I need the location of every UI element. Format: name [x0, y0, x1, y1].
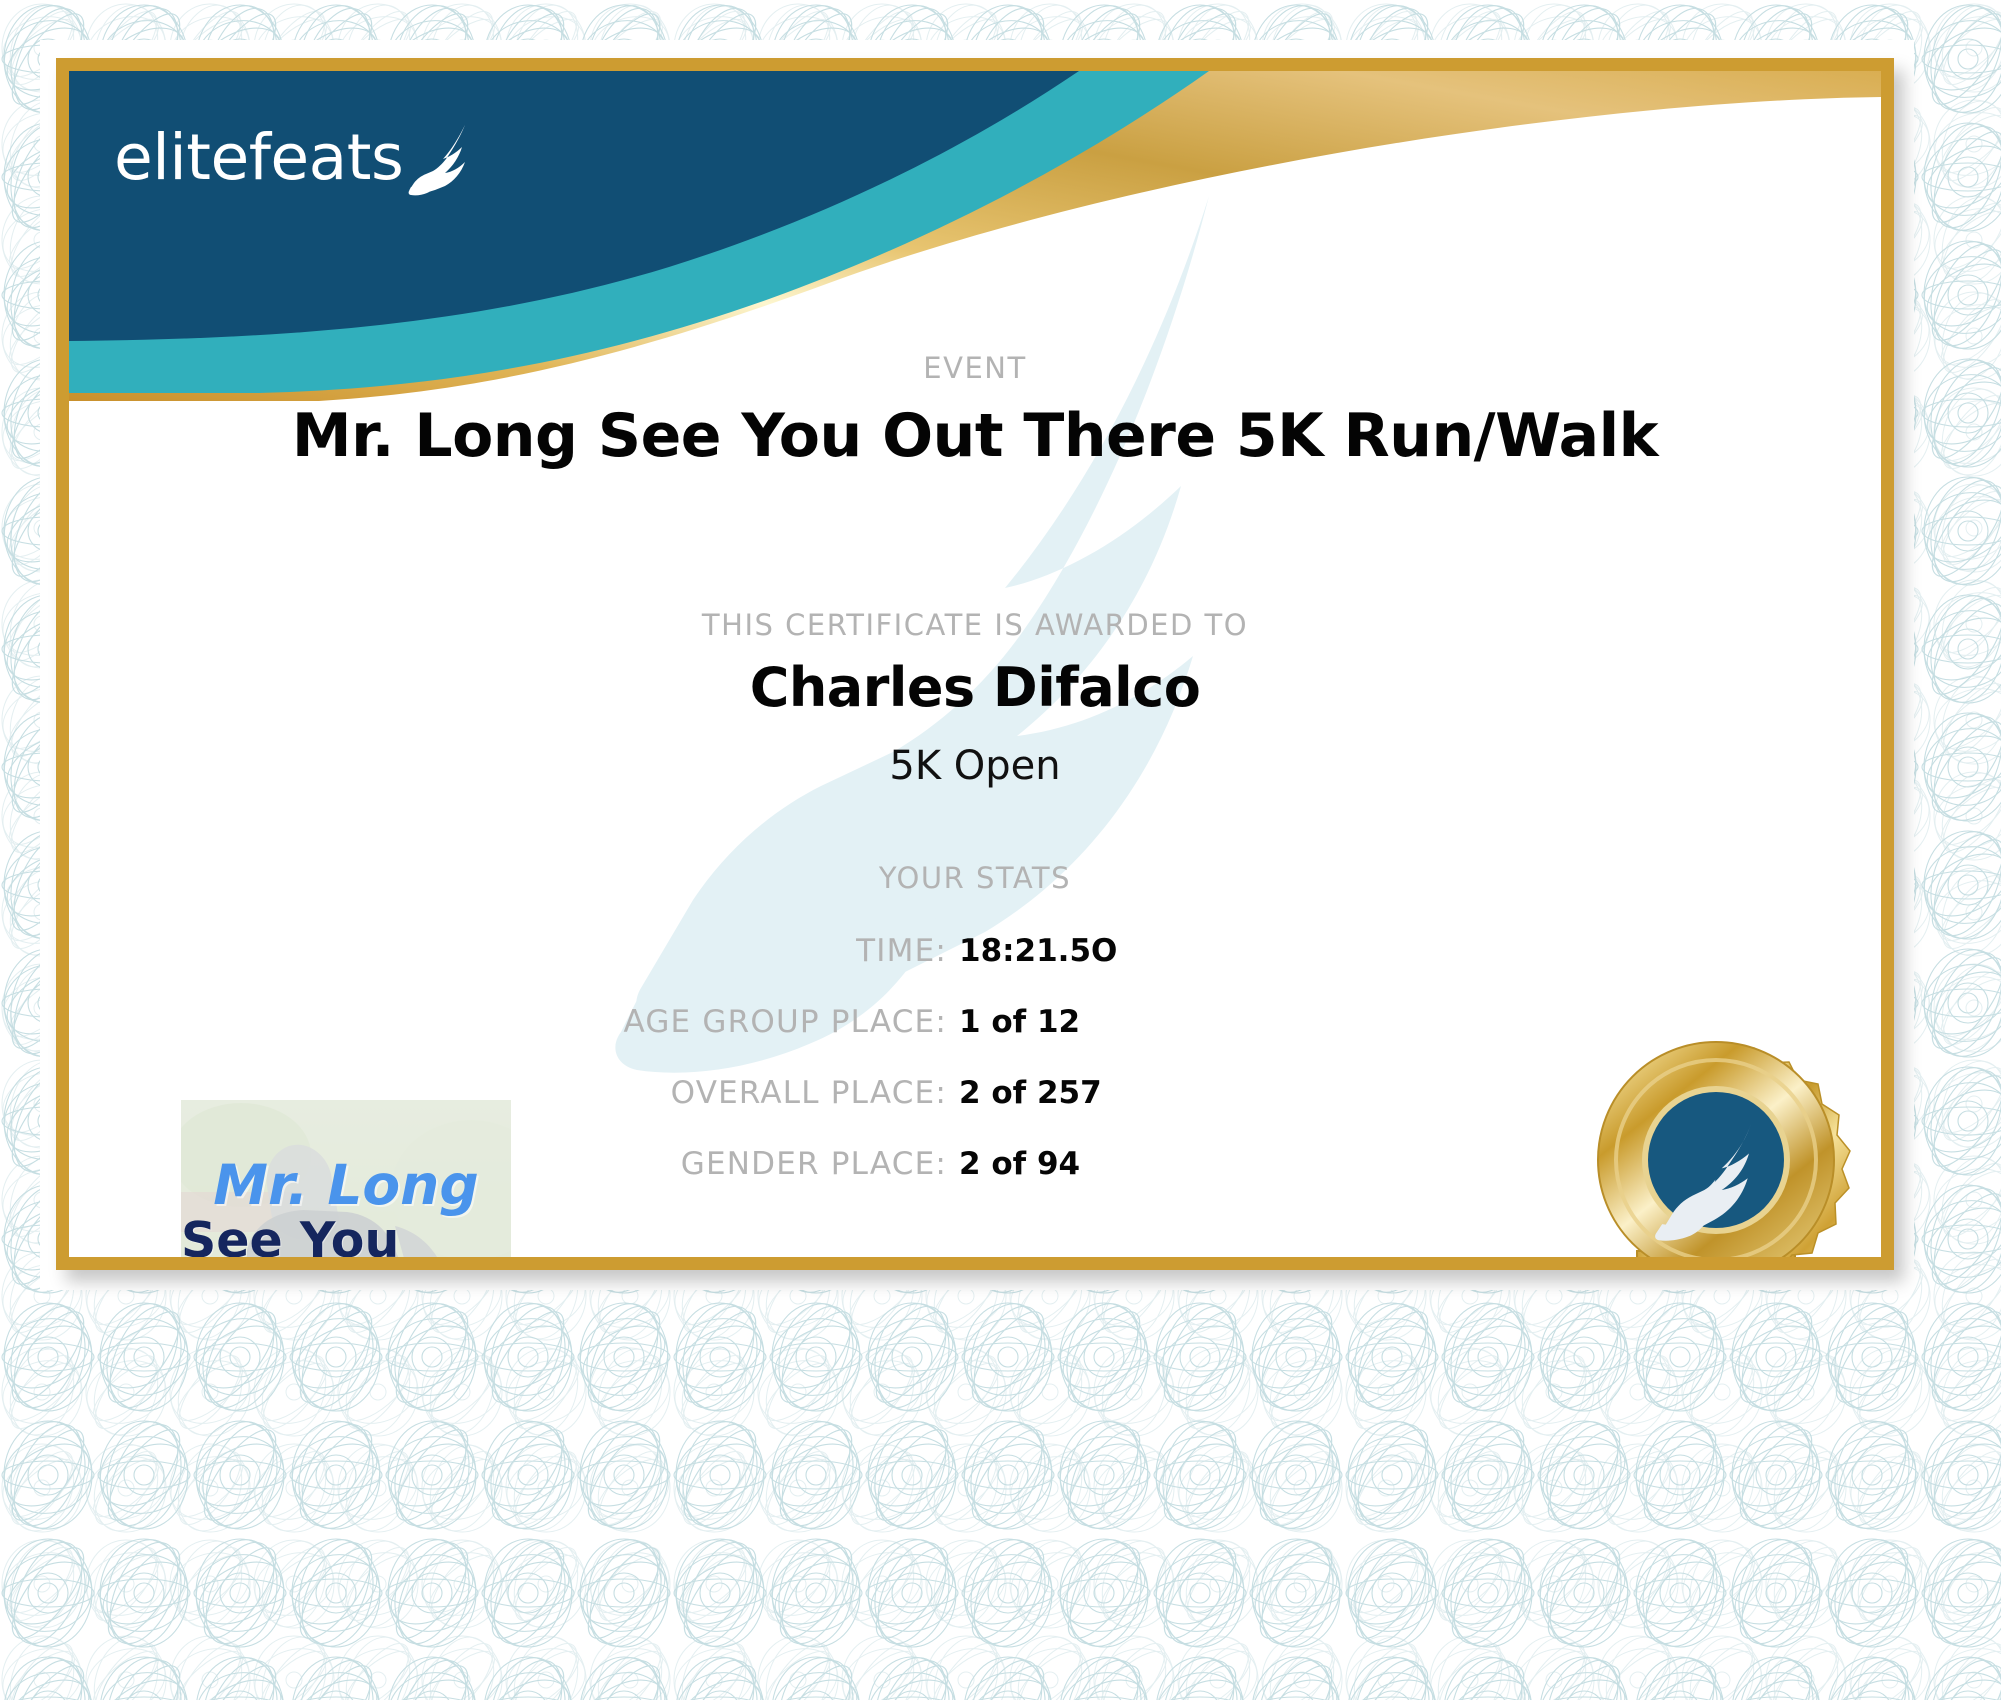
- stat-label: OVERALL PLACE:: [449, 1075, 947, 1111]
- stat-row-time: TIME: 18:21.5O: [449, 933, 1279, 980]
- finisher-medal-badge: 2O25: [1551, 1041, 1881, 1257]
- stat-row-gender-place: GENDER PLACE: 2 of 94: [449, 1146, 1279, 1193]
- certificate-card: elitefeats EVENT: [56, 58, 1894, 1270]
- your-stats-label: YOUR STATS: [69, 861, 1881, 895]
- photo-line-1: Mr. Long: [213, 1158, 478, 1213]
- awarded-to-label: THIS CERTIFICATE IS AWARDED TO: [69, 608, 1881, 642]
- stats-list: TIME: 18:21.5O AGE GROUP PLACE: 1 of 12 …: [449, 933, 1279, 1217]
- certificate-page: elitefeats EVENT: [0, 0, 2001, 1700]
- stat-label: AGE GROUP PLACE:: [449, 1004, 947, 1040]
- stat-value: 18:21.5O: [959, 933, 1117, 969]
- photo-line-2: See You Out: [181, 1215, 511, 1257]
- stat-row-overall-place: OVERALL PLACE: 2 of 257: [449, 1075, 1279, 1122]
- event-photo-overlay-text: Mr. Long See You Out There 5K: [181, 1100, 511, 1257]
- stat-row-age-group-place: AGE GROUP PLACE: 1 of 12: [449, 1004, 1279, 1051]
- logo-wordmark: elitefeats: [114, 126, 403, 189]
- stat-value: 2 of 257: [959, 1075, 1102, 1111]
- event-name: Mr. Long See You Out There 5K Run/Walk: [69, 401, 1881, 471]
- stat-value: 1 of 12: [959, 1004, 1080, 1040]
- stat-value: 2 of 94: [959, 1146, 1080, 1182]
- stat-label: TIME:: [449, 933, 947, 969]
- winged-foot-icon: [405, 123, 477, 201]
- recipient-name: Charles Difalco: [69, 656, 1881, 719]
- event-label: EVENT: [69, 351, 1881, 385]
- division-name: 5K Open: [69, 743, 1881, 789]
- event-photo: Mr. Long See You Out There 5K: [181, 1100, 511, 1257]
- elitefeats-logo: elitefeats: [114, 123, 477, 189]
- stat-label: GENDER PLACE:: [449, 1146, 947, 1182]
